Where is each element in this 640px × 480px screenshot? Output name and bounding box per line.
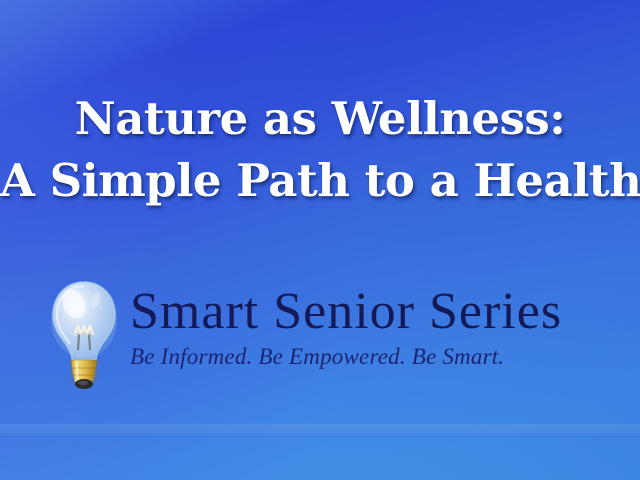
title-slide: Nature as Wellness: A Simple Path to a H… (0, 0, 640, 480)
logo-tagline: Be Informed. Be Empowered. Be Smart. (130, 344, 600, 370)
bottom-seam-line (0, 436, 640, 437)
logo-lockup: Smart Senior Series Be Informed. Be Empo… (0, 278, 640, 396)
logo-wordmark: Smart Senior Series (130, 286, 600, 338)
page-title: Nature as Wellness: A Simple Path to a H… (0, 96, 640, 204)
title-line-2: A Simple Path to a Healthier Life (0, 158, 640, 204)
lightbulb-icon (48, 278, 120, 393)
bottom-light-band (0, 424, 640, 436)
background-sheen (0, 0, 640, 480)
title-line-1: Nature as Wellness: (0, 96, 640, 142)
logo-text-group: Smart Senior Series Be Informed. Be Empo… (130, 286, 600, 370)
